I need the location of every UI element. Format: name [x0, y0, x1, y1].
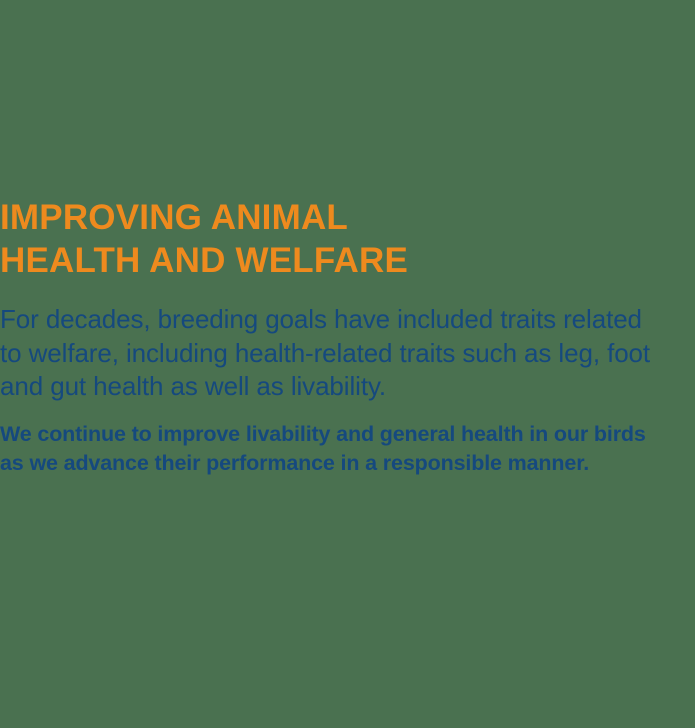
- intro-paragraph: For decades, breeding goals have include…: [0, 303, 660, 404]
- emphasis-paragraph: We continue to improve livability and ge…: [0, 420, 660, 479]
- text-content-block: IMPROVING ANIMAL HEALTH AND WELFARE For …: [0, 196, 660, 479]
- slide-canvas: IMPROVING ANIMAL HEALTH AND WELFARE For …: [0, 0, 695, 728]
- page-title: IMPROVING ANIMAL HEALTH AND WELFARE: [0, 196, 660, 282]
